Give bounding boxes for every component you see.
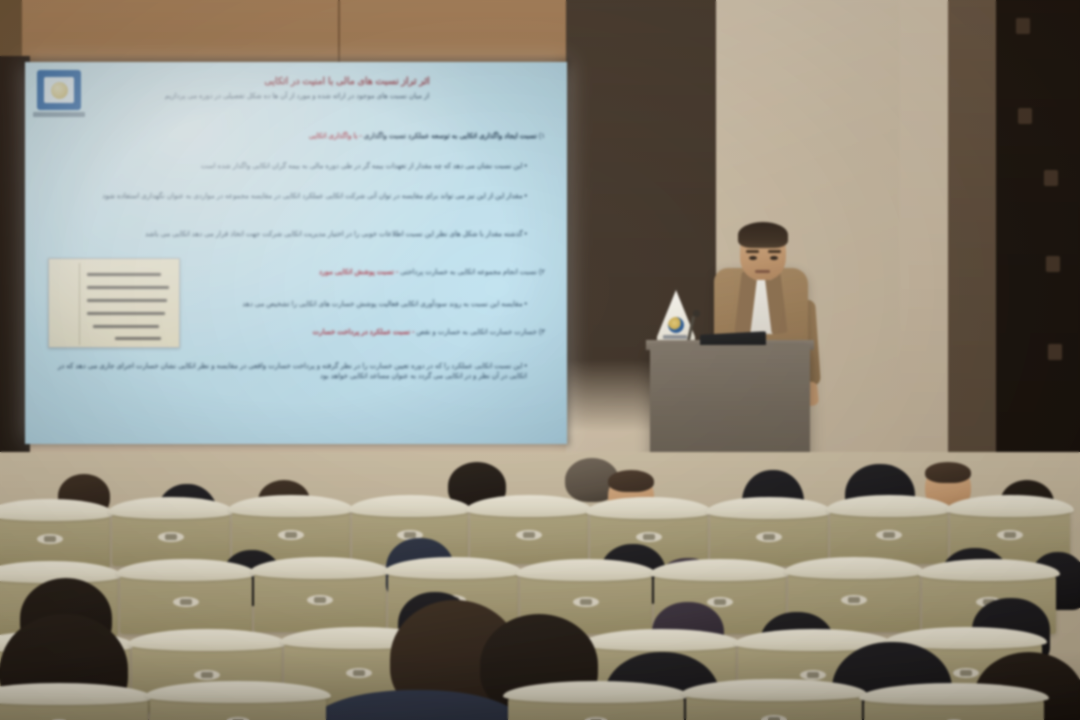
- speaker-mouth: [755, 270, 770, 273]
- slide-bullet-6: • مقایسه این نسبت به روند سودآوری اتکایی…: [207, 300, 527, 310]
- bullet-highlight: - با واگذاری اتکایی: [309, 133, 362, 140]
- bullet-marker: •: [525, 193, 527, 200]
- slide-bullet-2: • این نسبت نشان می دهد که چه مقدار از تع…: [87, 162, 527, 172]
- panel-marker: [1048, 344, 1062, 360]
- slide-subtitle: از میان نسبت های موجود در ارائه شده و مو…: [57, 92, 537, 102]
- seat-emblem-icon: [158, 532, 184, 542]
- bullet-marker: •: [525, 231, 527, 238]
- audience-area: [0, 452, 1080, 720]
- bullet-text: مقایسه این نسبت به روند سودآوری اتکایی ف…: [242, 301, 522, 308]
- figure-column-rule: [79, 263, 80, 345]
- slide-bullet-4: • گذشته مقدار با شکل های نظر این نسبت اط…: [79, 230, 527, 240]
- speaker-hair: [738, 222, 788, 248]
- audience-seat: [864, 694, 1044, 720]
- seat-emblem-icon: [278, 530, 304, 540]
- panel-marker: [1046, 256, 1060, 272]
- bullet-marker: ۲): [539, 269, 545, 276]
- figure-text-line: [87, 299, 167, 302]
- bullet-text: مقدار این از این نیز می تواند برای مقایس…: [102, 193, 522, 200]
- seat-emblem-icon: [516, 530, 542, 540]
- audience-seat: [508, 692, 684, 720]
- bullet-marker: ۳): [539, 329, 545, 336]
- bullet-marker: •: [525, 363, 527, 370]
- figure-text-line: [87, 286, 169, 289]
- seat-emblem-icon: [841, 595, 867, 605]
- figure-text-line: [115, 337, 161, 340]
- bullet-marker: •: [525, 163, 527, 170]
- seat-emblem-icon: [761, 715, 787, 720]
- figure-text-line: [87, 273, 161, 276]
- bullet-highlight: - نسبت عملکرد در پرداخت خسارت: [313, 329, 415, 336]
- audience-seat: [830, 506, 948, 564]
- slide-bullet-3: • مقدار این از این نیز می تواند برای مقا…: [79, 192, 527, 202]
- audience-seat: [254, 568, 386, 632]
- bullet-text: نسبت انجام مجموعه اتکایی به خسارت پرداخت…: [400, 269, 537, 276]
- far-right-column: [948, 0, 1000, 470]
- seat-emblem-icon: [707, 597, 733, 607]
- bullet-marker: ۱): [539, 133, 545, 140]
- microphone-head-icon: [693, 310, 700, 317]
- speaker-eyebrow-left: [746, 250, 759, 253]
- seat-emblem-icon: [346, 668, 372, 678]
- audience-seat: [120, 570, 252, 634]
- slide-bullet-5: ۲) نسبت انجام مجموعه اتکایی به خسارت پرد…: [215, 268, 545, 278]
- seat-emblem-icon: [573, 597, 599, 607]
- seat-emblem-icon: [800, 670, 826, 680]
- slide-title: اثر تراز نسبت های مالی با امنیت در اتکای…: [182, 76, 512, 87]
- seat-emblem-icon: [37, 534, 63, 544]
- bullet-marker: •: [525, 301, 527, 308]
- figure-text-line: [93, 325, 159, 328]
- seat-emblem-icon: [636, 532, 662, 542]
- audience-seat: [0, 694, 148, 720]
- seat-emblem-icon: [194, 670, 220, 680]
- slide-bullet-1: ۱) نسبت ایجاد واگذاری اتکایی به توسعه عم…: [85, 132, 545, 142]
- audience-seat: [686, 690, 862, 720]
- panel-marker: [1018, 108, 1032, 124]
- speaker-eyebrow-right: [768, 250, 781, 253]
- seat-emblem-icon: [173, 597, 199, 607]
- far-right-dark-panel: [996, 0, 1080, 470]
- audience-seat: [112, 508, 230, 566]
- photo-canvas: اثر تراز نسبت های مالی با امنیت در اتکای…: [0, 0, 1080, 720]
- bullet-text: این نسبت اتکایی عملکرد را که در دوره تعی…: [58, 363, 527, 380]
- seat-emblem-icon: [756, 532, 782, 542]
- speaker-eye-right: [770, 256, 778, 260]
- banner-text-bar: [663, 335, 687, 339]
- seat-emblem-icon: [876, 530, 902, 540]
- audience-seat: [710, 508, 828, 566]
- projection-screen: اثر تراز نسبت های مالی با امنیت در اتکای…: [25, 62, 567, 444]
- audience-seat: [150, 692, 326, 720]
- bullet-text: این نسبت نشان می دهد که چه مقدار از تعهد…: [201, 163, 523, 170]
- audience-seat: [470, 506, 588, 564]
- slide-quote-figure: [48, 258, 180, 348]
- slide-bullet-8: • این نسبت اتکایی عملکرد را که در دوره ت…: [57, 362, 527, 382]
- bullet-text: خسارت خسارت اتکایی به خسارت و نقص: [416, 329, 537, 336]
- slide-content: اثر تراز نسبت های مالی با امنیت در اتکای…: [25, 62, 567, 444]
- seat-emblem-icon: [953, 668, 979, 678]
- seat-emblem-icon: [997, 530, 1023, 540]
- figure-text-line: [87, 312, 165, 315]
- audience-seat: [0, 510, 110, 568]
- bullet-text: نسبت ایجاد واگذاری اتکایی به توسعه عملکر…: [364, 133, 537, 140]
- seat-emblem-icon: [307, 595, 333, 605]
- bullet-highlight: - نسبت پوشش اتکایی مورد: [319, 269, 398, 276]
- panel-marker: [1016, 18, 1030, 34]
- left-wall-upper: [0, 0, 22, 60]
- slide-bullet-7: ۳) خسارت خسارت اتکایی به خسارت و نقص - ن…: [215, 328, 545, 338]
- panel-marker: [1044, 170, 1058, 186]
- speaker-eye-left: [749, 256, 757, 260]
- banner-logo-icon: [668, 317, 684, 333]
- bullet-text: گذشته مقدار با شکل های نظر این نسبت اطلا…: [145, 231, 523, 238]
